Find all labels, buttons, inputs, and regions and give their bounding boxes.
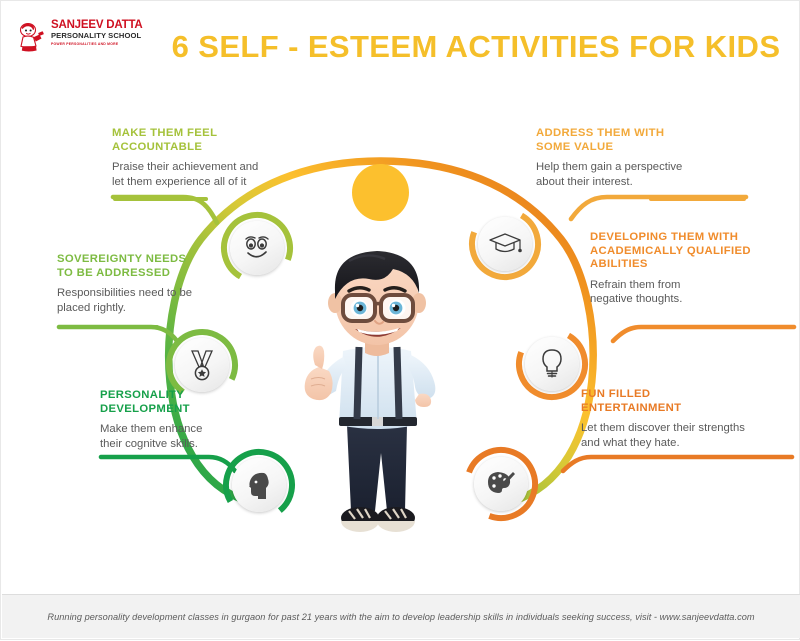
activity-block-make-them-feel-accountable: MAKE THEM FEEL ACCOUNTABLE Praise their … [112, 127, 312, 189]
head-profile-icon[interactable] [232, 458, 286, 512]
body-line-2: their cognitve skills. [100, 438, 198, 450]
body-line-1: Let them discover their strengths [581, 422, 745, 434]
heading-line-2: SOME VALUE [536, 141, 613, 153]
activity-heading: PERSONALITY DEVELOPMENT [100, 389, 295, 416]
heading-line-1: FUN FILLED [581, 388, 650, 400]
activity-body: Make them enhance their cognitve skills. [100, 422, 295, 451]
heading-line-1: PERSONALITY [100, 389, 184, 401]
body-line-1: Responsibilities need to be [57, 287, 192, 299]
activity-block-developing-them-with-academically-qualified-abilities: DEVELOPING THEM WITH ACADEMICALLY QUALIF… [590, 231, 795, 307]
body-line-1: Refrain them from [590, 279, 680, 291]
heading-line-2: DEVELOPMENT [100, 403, 190, 415]
body-line-2: and what they hate. [581, 437, 680, 449]
palette-brush-icon[interactable] [474, 457, 528, 511]
footer-text: Running personality development classes … [2, 595, 800, 638]
heading-line-1: DEVELOPING THEM WITH [590, 231, 738, 243]
activity-body: Praise their achievement and let them ex… [112, 160, 312, 189]
body-line-1: Help them gain a perspective [536, 161, 682, 173]
activity-body: Let them discover their strengths and wh… [581, 421, 791, 450]
activity-body: Refrain them from negative thoughts. [590, 278, 795, 307]
body-line-1: Make them enhance [100, 423, 202, 435]
body-line-2: let them experience all of it [112, 176, 246, 188]
activity-body: Responsibilities need to be placed right… [57, 286, 262, 315]
body-line-1: Praise their achievement and [112, 161, 258, 173]
center-hub-dot [352, 164, 409, 221]
activity-heading: DEVELOPING THEM WITH ACADEMICALLY QUALIF… [590, 231, 795, 272]
heading-line-1: MAKE THEM FEEL [112, 127, 217, 139]
heading-line-1: SOVEREIGNTY NEEDS [57, 253, 186, 265]
activity-heading: SOVEREIGNTY NEEDS TO BE ADDRESSED [57, 253, 262, 280]
activity-block-fun-filled-entertainment: FUN FILLED ENTERTAINMENT Let them discov… [581, 388, 791, 450]
activity-block-address-them-with-some-value: ADDRESS THEM WITH SOME VALUE Help them g… [536, 127, 746, 189]
activity-heading: MAKE THEM FEEL ACCOUNTABLE [112, 127, 312, 154]
heading-line-1: ADDRESS THEM WITH [536, 127, 664, 139]
heading-line-2: TO BE ADDRESSED [57, 267, 170, 279]
lightbulb-icon[interactable] [525, 337, 579, 391]
activity-heading: ADDRESS THEM WITH SOME VALUE [536, 127, 746, 154]
activity-body: Help them gain a perspective about their… [536, 160, 746, 189]
body-line-2: negative thoughts. [590, 293, 682, 305]
graduation-cap-icon[interactable] [478, 217, 532, 271]
activity-heading: FUN FILLED ENTERTAINMENT [581, 388, 791, 415]
boy-with-glasses-thumbs-up-illustration [289, 239, 469, 569]
heading-line-2: ENTERTAINMENT [581, 402, 681, 414]
infographic-canvas: SANJEEV DATTA PERSONALITY SCHOOL POWER P… [0, 0, 800, 640]
heading-line-3: ABILITIES [590, 258, 648, 270]
footer-bar: Running personality development classes … [2, 594, 800, 638]
activity-block-personality-development: PERSONALITY DEVELOPMENT Make them enhanc… [100, 389, 295, 451]
heading-line-2: ACADEMICALLY QUALIFIED [590, 245, 751, 257]
medal-icon[interactable] [175, 338, 229, 392]
body-line-2: about their interest. [536, 176, 633, 188]
heading-line-2: ACCOUNTABLE [112, 141, 202, 153]
activity-block-sovereignty-needs-to-be-addressed: SOVEREIGNTY NEEDS TO BE ADDRESSED Respon… [57, 253, 262, 315]
body-line-2: placed rightly. [57, 302, 126, 314]
